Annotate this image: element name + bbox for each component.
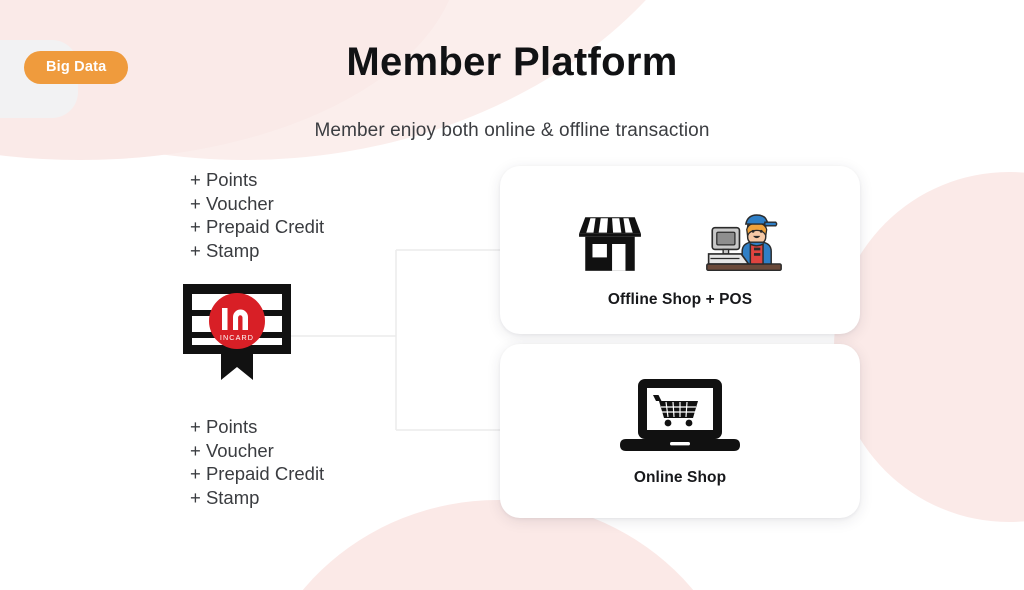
benefit-item: + Prepaid Credit [190, 462, 324, 486]
channel-card-online[interactable]: Online Shop [500, 344, 860, 518]
benefit-item: + Voucher [190, 439, 324, 463]
benefit-item: + Points [190, 168, 324, 192]
incard-wordmark: INCARD [220, 333, 254, 342]
incard-logo: INCARD [183, 284, 291, 380]
storefront-icon [577, 211, 643, 277]
benefit-item: + Voucher [190, 192, 324, 216]
offline-card-label: Offline Shop + POS [608, 291, 752, 309]
page-subtitle: Member enjoy both online & offline trans… [0, 120, 1024, 142]
page-title: Member Platform [0, 40, 1024, 85]
online-card-icons [618, 375, 742, 461]
cashier-pos-icon [705, 211, 783, 277]
online-card-label: Online Shop [634, 469, 726, 487]
decorative-blob-right [834, 172, 1024, 522]
slide-canvas: Big Data Member Platform Member enjoy bo… [0, 0, 1024, 590]
laptop-shopping-cart-icon [618, 373, 742, 461]
channel-card-offline[interactable]: Offline Shop + POS [500, 166, 860, 334]
offline-card-icons [577, 191, 783, 277]
benefit-item: + Stamp [190, 486, 324, 510]
benefit-item: + Prepaid Credit [190, 215, 324, 239]
connector-bracket [280, 240, 520, 440]
